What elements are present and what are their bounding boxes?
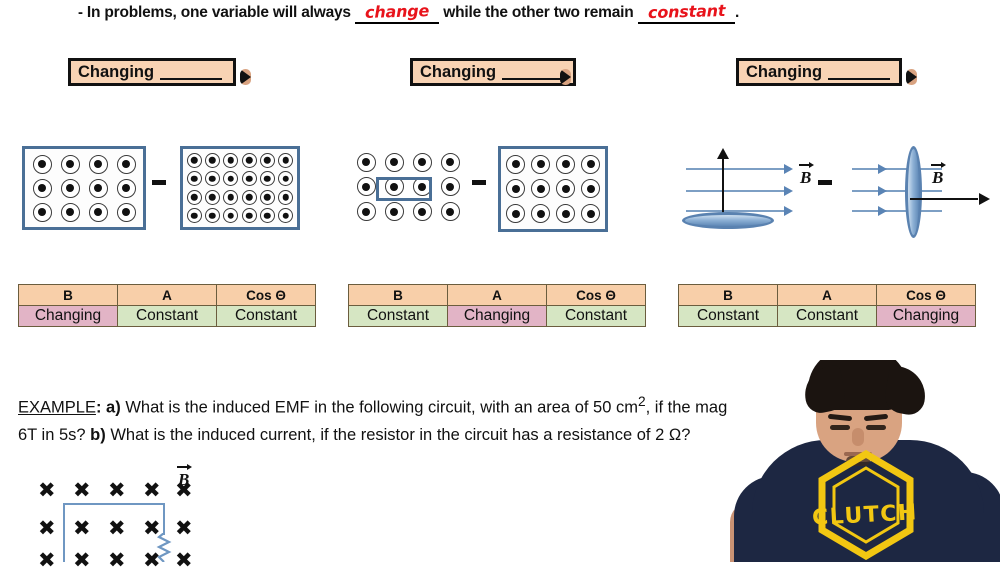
eye-right xyxy=(866,425,886,430)
circuit-wire-left xyxy=(63,503,65,562)
changing-label-1: Changing xyxy=(78,64,154,81)
statement-line: - In problems, one variable will always … xyxy=(78,2,958,22)
eye-left xyxy=(830,425,850,430)
changing-blank-2 xyxy=(502,65,564,80)
table-changing-theta: B A Cos Θ Constant Constant Changing xyxy=(678,284,976,327)
td-a: Changing xyxy=(448,306,547,327)
normal-vector-after xyxy=(910,192,990,206)
table-header-row: B A Cos Θ xyxy=(679,285,976,306)
transition-arrow-2 xyxy=(472,180,486,185)
th-a: A xyxy=(448,285,547,306)
field-line-1b xyxy=(686,190,786,192)
small-area-loop xyxy=(376,177,432,201)
blank-change: change xyxy=(355,2,439,22)
field-arrow-1b xyxy=(784,186,793,196)
circuit-wire-top xyxy=(63,503,165,505)
changing-box-1: Changing xyxy=(68,58,236,86)
nose xyxy=(852,428,864,446)
x-mark: ✖ xyxy=(38,480,56,501)
example-colon: : xyxy=(96,399,102,417)
changing-blank-3 xyxy=(828,65,890,80)
field-line-2a xyxy=(852,168,942,170)
b-field-label-right: B xyxy=(932,168,943,188)
changing-box-3: Changing xyxy=(736,58,902,86)
td-b: Constant xyxy=(349,306,448,327)
part-a-label: a) xyxy=(106,399,121,417)
part-a-text-1: What is the induced EMF in the following… xyxy=(125,399,638,417)
table-row: Constant Constant Changing xyxy=(679,306,976,327)
transition-arrow-3 xyxy=(818,180,832,185)
th-b: B xyxy=(679,285,778,306)
handwriting-change: change xyxy=(359,1,436,22)
td-b: Constant xyxy=(679,306,778,327)
x-mark: ✖ xyxy=(175,518,193,539)
th-b: B xyxy=(349,285,448,306)
th-a: A xyxy=(778,285,877,306)
td-a: Constant xyxy=(778,306,877,327)
td-b: Changing xyxy=(19,306,118,327)
statement-part-1: In problems, one variable will always xyxy=(87,4,351,21)
td-cos: Constant xyxy=(547,306,646,327)
x-mark: ✖ xyxy=(73,550,91,571)
field-arrow-2c xyxy=(878,206,887,216)
statement-period: . xyxy=(735,4,739,21)
th-b: B xyxy=(19,285,118,306)
transition-arrow-1 xyxy=(152,180,166,185)
x-mark: ✖ xyxy=(108,480,126,501)
field-arrow-2a xyxy=(878,164,887,174)
statement-part-2: while the other two remain xyxy=(443,4,633,21)
dot-grid-after-1 xyxy=(185,151,295,225)
example-title: EXAMPLE xyxy=(18,399,96,417)
th-cos: Cos Θ xyxy=(877,285,976,306)
changing-label-3: Changing xyxy=(746,64,822,81)
changing-blank-1 xyxy=(160,65,222,80)
x-mark: ✖ xyxy=(175,550,193,571)
instructor-video-overlay[interactable]: CLUTCH xyxy=(728,360,1000,562)
part-a-superscript: 2 xyxy=(638,394,646,409)
table-changing-b: B A Cos Θ Changing Constant Constant xyxy=(18,284,316,327)
x-mark: ✖ xyxy=(38,550,56,571)
blank-constant: constant xyxy=(638,2,735,22)
table-row: Constant Changing Constant xyxy=(349,306,646,327)
th-a: A xyxy=(118,285,217,306)
changing-box-2: Changing xyxy=(410,58,576,86)
field-line-1a xyxy=(686,168,786,170)
table-header-row: B A Cos Θ xyxy=(19,285,316,306)
coil-horizontal xyxy=(682,212,774,229)
x-mark: ✖ xyxy=(143,480,161,501)
field-arrow-1c xyxy=(784,206,793,216)
x-mark: ✖ xyxy=(38,518,56,539)
td-a: Constant xyxy=(118,306,217,327)
td-cos: Changing xyxy=(877,306,976,327)
resistor-icon xyxy=(155,533,175,562)
x-mark: ✖ xyxy=(73,480,91,501)
x-mark: ✖ xyxy=(108,550,126,571)
th-cos: Cos Θ xyxy=(217,285,316,306)
part-b-label: b) xyxy=(90,426,106,444)
slide-canvas: - In problems, one variable will always … xyxy=(0,0,1000,562)
changing-label-2: Changing xyxy=(420,64,496,81)
field-arrow-1a xyxy=(784,164,793,174)
x-mark: ✖ xyxy=(108,518,126,539)
table-row: Changing Constant Constant xyxy=(19,306,316,327)
dot-grid-after-2 xyxy=(503,152,603,226)
handwriting-constant: constant xyxy=(641,1,731,22)
table-changing-a: B A Cos Θ Constant Changing Constant xyxy=(348,284,646,327)
x-mark: ✖ xyxy=(73,518,91,539)
b-field-label-left: B xyxy=(800,168,811,188)
dot-grid-before-1 xyxy=(28,152,140,224)
th-cos: Cos Θ xyxy=(547,285,646,306)
td-cos: Constant xyxy=(217,306,316,327)
part-b-text: What is the induced current, if the resi… xyxy=(110,426,690,444)
table-header-row: B A Cos Θ xyxy=(349,285,646,306)
bullet-dash: - xyxy=(78,4,83,21)
field-arrow-2b xyxy=(878,186,887,196)
circuit-wire-right xyxy=(163,503,165,535)
b-field-label-circuit: B xyxy=(178,470,189,490)
field-line-2c xyxy=(852,210,942,212)
